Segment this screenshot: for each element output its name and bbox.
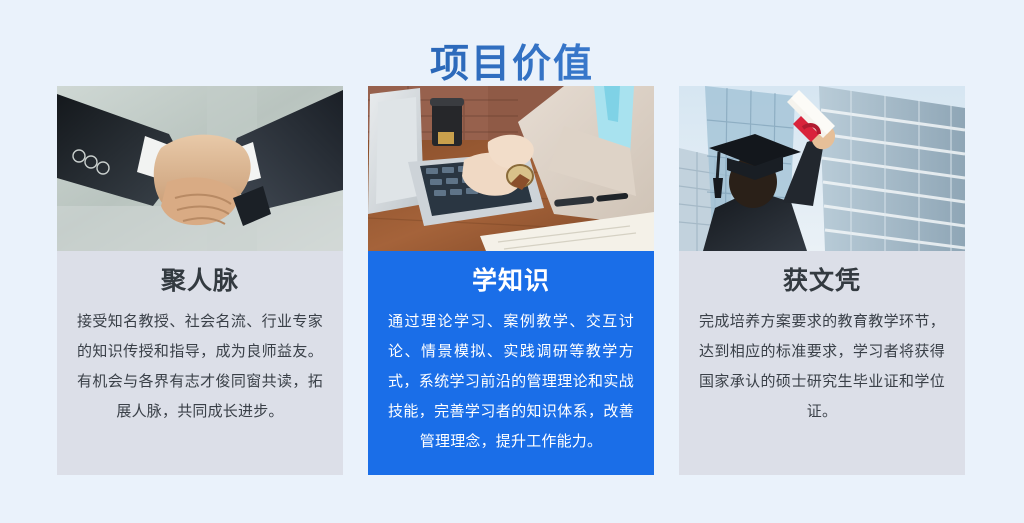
- value-card-diploma[interactable]: 获文凭 完成培养方案要求的教育教学环节，达到相应的标准要求，学习者将获得国家承认…: [679, 86, 965, 475]
- value-card-connections[interactable]: 聚人脉 接受知名教授、社会名流、行业专家的知识传授和指导，成为良师益友。有机会与…: [57, 86, 343, 475]
- card-heading: 学知识: [388, 265, 634, 299]
- value-card-knowledge[interactable]: 学知识 通过理论学习、案例教学、交互讨论、情景模拟、实践调研等教学方式，系统学习…: [368, 86, 654, 475]
- card-text: 完成培养方案要求的教育教学环节，达到相应的标准要求，学习者将获得国家承认的硕士研…: [699, 307, 945, 427]
- card-heading: 获文凭: [699, 265, 945, 299]
- page-title: 项目价值: [0, 42, 1024, 88]
- card-body: 学知识 通过理论学习、案例教学、交互讨论、情景模拟、实践调研等教学方式，系统学习…: [368, 251, 654, 475]
- card-text: 通过理论学习、案例教学、交互讨论、情景模拟、实践调研等教学方式，系统学习前沿的管…: [388, 307, 634, 457]
- laptop-working-photo: [368, 86, 654, 251]
- card-heading: 聚人脉: [77, 265, 323, 299]
- graduate-diploma-photo: [679, 86, 965, 251]
- handshake-photo: [57, 86, 343, 251]
- card-text: 接受知名教授、社会名流、行业专家的知识传授和指导，成为良师益友。有机会与各界有志…: [77, 307, 323, 427]
- value-cards-row: 聚人脉 接受知名教授、社会名流、行业专家的知识传授和指导，成为良师益友。有机会与…: [57, 86, 965, 475]
- project-value-section: 项目价值: [0, 0, 1024, 523]
- card-body: 获文凭 完成培养方案要求的教育教学环节，达到相应的标准要求，学习者将获得国家承认…: [679, 251, 965, 475]
- card-body: 聚人脉 接受知名教授、社会名流、行业专家的知识传授和指导，成为良师益友。有机会与…: [57, 251, 343, 475]
